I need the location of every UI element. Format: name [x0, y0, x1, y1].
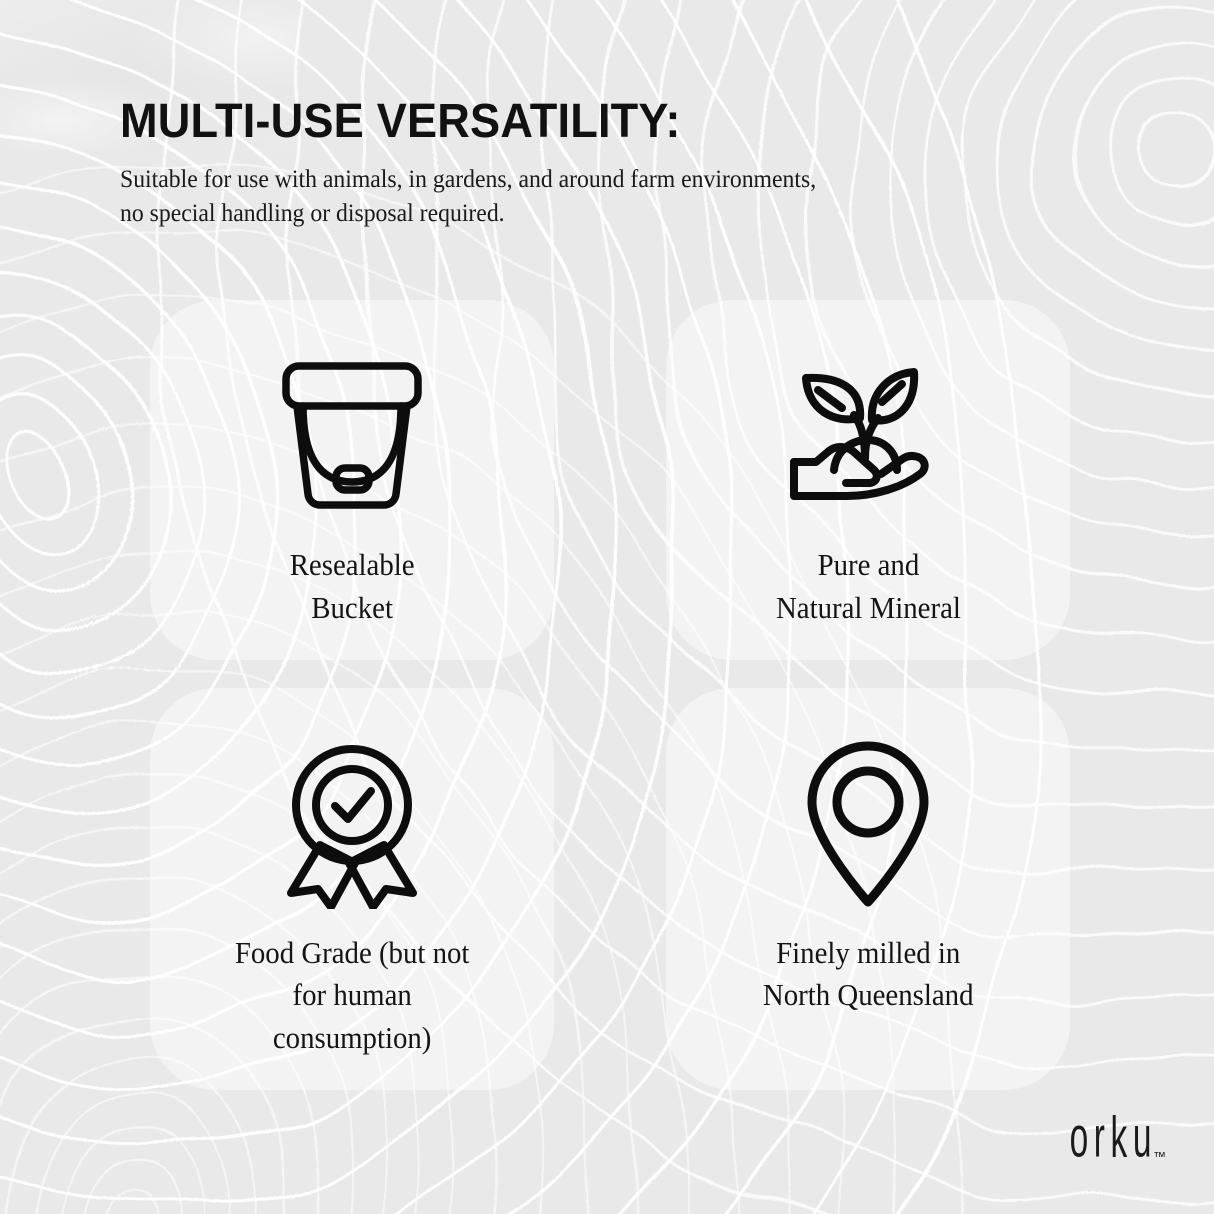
label-line-1: Resealable	[290, 544, 415, 587]
feature-card-label: Food Grade (but not for human consumptio…	[235, 932, 470, 1060]
label-line-1: Pure and	[776, 544, 961, 587]
label-line-2: North Queensland	[763, 974, 974, 1017]
subtitle-line-2: no special handling or disposal required…	[120, 196, 1031, 230]
brand-wordmark: orku	[1070, 1109, 1157, 1166]
header-block: MULTI-USE VERSATILITY: Suitable for use …	[120, 98, 1100, 229]
label-line-3: consumption)	[235, 1017, 470, 1060]
feature-card-label: Pure and Natural Mineral	[776, 544, 961, 630]
bucket-icon	[267, 352, 437, 522]
feature-card-label: Resealable Bucket	[290, 544, 415, 630]
hand-sprout-icon	[784, 352, 952, 522]
feature-card-finely-milled: Finely milled in North Queensland	[666, 688, 1070, 1090]
feature-card-grid: Resealable Bucket	[150, 300, 1070, 1060]
label-line-1: Food Grade (but not	[235, 932, 470, 975]
feature-card-food-grade: Food Grade (but not for human consumptio…	[150, 688, 554, 1090]
poster-canvas: MULTI-USE VERSATILITY: Suitable for use …	[0, 0, 1214, 1214]
award-badge-check-icon	[273, 740, 431, 910]
label-line-2: for human	[235, 974, 470, 1017]
page-subtitle: Suitable for use with animals, in garden…	[120, 162, 1031, 229]
subtitle-line-1: Suitable for use with animals, in garden…	[120, 162, 1031, 196]
feature-card-resealable-bucket: Resealable Bucket	[150, 300, 554, 660]
feature-card-pure-natural-mineral: Pure and Natural Mineral	[666, 300, 1070, 660]
label-line-1: Finely milled in	[763, 932, 974, 975]
brand-logo: orku ™	[1016, 1112, 1166, 1166]
label-line-2: Bucket	[290, 587, 415, 630]
page-title: MULTI-USE VERSATILITY:	[120, 98, 1041, 146]
map-pin-icon	[800, 740, 936, 910]
label-line-2: Natural Mineral	[776, 587, 961, 630]
feature-card-label: Finely milled in North Queensland	[763, 932, 974, 1018]
